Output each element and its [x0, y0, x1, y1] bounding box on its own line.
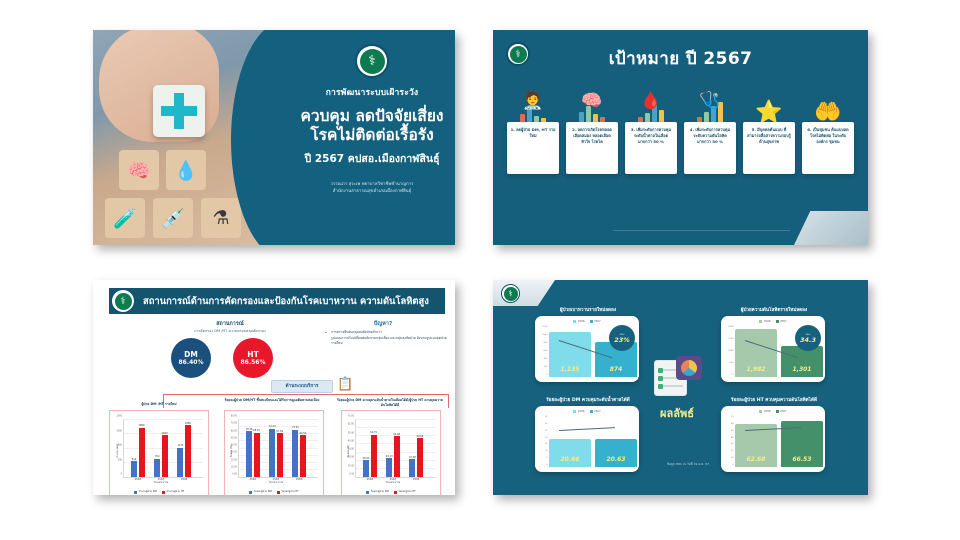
brain-icon: 🧠 [119, 150, 159, 190]
hero-star-icon: ⭐ [743, 82, 795, 124]
bp-monitor-up-icon: 🩺 [684, 82, 736, 124]
legend-swatch [162, 491, 165, 494]
plot-area: 01020304050607062.6866.53 [735, 419, 818, 467]
legend-swatch [394, 491, 397, 494]
glucometer-up-icon: 🩸 [625, 82, 677, 124]
bar-value-label: 27.08 [409, 456, 416, 460]
bar-group: 72.3464.532566 [292, 430, 306, 477]
result-bar-value: 62.68 [747, 456, 766, 467]
legend-label: ร้อยละผู้ป่วย DM [371, 490, 389, 494]
chart-legend: ร้อยละผู้ป่วย DMร้อยละผู้ป่วย HT [342, 490, 440, 494]
bar-group: 70.4668.252564 [246, 431, 260, 477]
problem-text-2: รูปแบบการปรับเปลี่ยนพฤติกรรมกลุ่มเสี่ยง … [331, 336, 447, 346]
legend-label: ร้อยละผู้ป่วย HT [281, 490, 298, 494]
legend-swatch [759, 410, 762, 413]
legend-entry: 2567 [776, 320, 787, 323]
x-axis-label: ปีงบประมาณ [269, 481, 283, 485]
result-bar-value: 1,135 [561, 366, 580, 377]
slide-4-results[interactable]: ⚕ ผู้ป่วยเบาหวานรายใหม่ลดลง2566256702004… [493, 280, 868, 495]
legend-label: 2566 [764, 410, 771, 413]
y-tick: 1200 [542, 326, 549, 328]
bar: 62.68 [394, 436, 400, 477]
y-tick: 1000 [728, 350, 735, 352]
ministry-logo-icon: ⚕ [355, 44, 389, 78]
plot-area: 0.0010.0020.0030.0040.0050.0060.0070.002… [355, 419, 435, 477]
legend-label: 2566 [578, 320, 585, 323]
chart-title-3: ร้อยละผู้ป่วย DM ควบคุมระดับน้ำตาลในเลือ… [336, 398, 444, 408]
plot-area: 0.0010.0020.0030.0040.0050.0060.0070.008… [238, 419, 318, 477]
corner-decoration [794, 211, 868, 245]
legend-label: 2566 [578, 410, 585, 413]
reduction-badge: ลดลง23% [609, 325, 635, 351]
chart-title-2: ร้อยละผู้ป่วย DM/HT ขึ้นทะเบียนและได้รับ… [221, 398, 323, 403]
legend-swatch [134, 491, 137, 494]
bar-group: 113519822566 [177, 425, 191, 477]
legend-entry: 2566 [759, 320, 770, 323]
result-bar-value: 1,301 [793, 366, 812, 377]
legend-entry: จำนวนผู้ป่วย HT [162, 490, 184, 494]
slide1-title-line1: ควบคุม ลดปัจจัยเสี่ยง [289, 107, 455, 126]
goal-card-2[interactable]: 2. ลดการเกิดโรคหลอดเลือดสมอง หลอดเลือดหั… [566, 122, 618, 174]
x-axis-label: ปีงบประมาณ [386, 481, 400, 485]
slide-1-title[interactable]: 🧠 💧 🧪 💉 ⚗ ⚕ การพัฒนาระบบเฝ้าระวัง ควบคุม… [93, 30, 455, 245]
y-tick: 35 [545, 416, 549, 418]
badge-value: 34.3 [800, 336, 816, 344]
bar: 27.08 [409, 459, 415, 477]
y-tick: 20.00 [231, 458, 238, 461]
chart-legend: จำนวนผู้ป่วย DMจำนวนผู้ป่วย HT [110, 490, 208, 494]
slide-2-goals[interactable]: ⚕ เป้าหมาย ปี 2567 🧑‍⚕️🧠🩸🩺⭐🤲 1. ลดผู้ป่ว… [493, 30, 868, 245]
legend-entry: ร้อยละผู้ป่วย DM [366, 490, 388, 494]
result-chart-1[interactable]: 256625670200400600800100012001,135874ลดล… [535, 316, 639, 382]
x-tick: 2566 [181, 477, 188, 481]
title-text-panel: ⚕ การพัฒนาระบบเฝ้าระวัง ควบคุม ลดปัจจัยเ… [289, 30, 455, 245]
clipboard-location-icon: 📋 [337, 377, 353, 392]
y-tick: 80.00 [231, 415, 238, 418]
results-label: ผลลัพธ์ [643, 404, 711, 422]
problem-title: ปัญหา? [323, 320, 443, 328]
result-bar: 1,982 [735, 329, 777, 377]
legend-label: 2567 [780, 320, 787, 323]
bar-value-label: 74.44 [269, 425, 276, 429]
result-chart-title-3: ร้อยละผู้ป่วย DM ควบคุมระดับน้ำตาลได้ดี [523, 397, 653, 404]
y-tick: 20 [545, 437, 549, 439]
brain-vessel-down-icon: 🧠 [566, 82, 618, 124]
y-tick: 50.00 [231, 436, 238, 439]
bar: 1899 [139, 428, 145, 477]
logo-glyph: ⚕ [360, 49, 385, 74]
bar-group: 29.1362.682565 [386, 436, 400, 477]
bar: 1135 [177, 448, 183, 478]
bar: 610 [131, 461, 137, 477]
result-chart-title-4: ร้อยละผู้ป่วย HT ควบคุมความดันโลหิตได้ดี [709, 397, 839, 404]
bar-value-label: 25.63 [363, 457, 370, 461]
result-chart-3[interactable]: 256625670510152025303520.6620.63 [535, 406, 639, 472]
molecule-icon: ⚗ [201, 198, 241, 238]
pie-chart-icon [676, 356, 702, 380]
ministry-logo-icon: ⚕ [501, 284, 520, 303]
y-tick: 1000 [542, 334, 549, 336]
legend-swatch [249, 491, 252, 494]
result-legend: 25662567 [721, 320, 825, 323]
legend-label: 2567 [594, 320, 601, 323]
reduction-badge: ลดลง34.3 [795, 325, 821, 351]
bar: 70.46 [246, 431, 252, 477]
legend-label: ร้อยละผู้ป่วย DM [254, 490, 272, 494]
kpi-dm-label: DM [184, 350, 198, 359]
y-tick: 70.00 [231, 422, 238, 425]
y-tick: 1500 [116, 429, 123, 432]
bar: 64.53 [300, 435, 306, 477]
y-tick: 60.00 [348, 423, 355, 426]
y-tick: 70 [731, 416, 735, 418]
slide3-header-title: สถานการณ์ด้านการคัดกรองและป้องกันโรคเบาห… [143, 294, 429, 309]
legend-swatch [776, 410, 779, 413]
result-legend: 25662567 [721, 410, 825, 413]
y-tick: 1500 [728, 338, 735, 340]
slide3-header-bar: สถานการณ์ด้านการคัดกรองและป้องกันโรคเบาห… [109, 288, 445, 314]
goal-card-6[interactable]: 6. เป็นชุมชน ต้นแบบลดโรคไม่ติดต่อ ในระดั… [802, 122, 854, 174]
y-tick: 25 [545, 430, 549, 432]
legend-swatch [573, 320, 576, 323]
legend-label: 2567 [780, 410, 787, 413]
result-chart-title-2: ผู้ป่วยความดันโลหิตรายใหม่ลดลง [709, 307, 839, 314]
slide1-subtitle: การพัฒนาระบบเฝ้าระวัง [289, 85, 455, 99]
bar: 1600 [162, 435, 168, 477]
goal-card-3[interactable]: 3. เพิ่มระดับการควบคุมระดับน้ำตาลในเลือด… [625, 122, 677, 174]
legend-entry: 2567 [590, 410, 601, 413]
bar-group: 74.4467.562565 [269, 429, 283, 477]
blood-drop-icon: 💧 [166, 150, 206, 190]
logo-glyph: ⚕ [115, 293, 132, 310]
y-tick: 30 [545, 423, 549, 425]
bar-group: 25.6364.792564 [363, 435, 377, 477]
bar-value-label: 64.79 [370, 431, 377, 435]
bar-value-label: 64.53 [299, 432, 306, 436]
kpi-ht-label: HT [247, 350, 258, 359]
legend-swatch [366, 491, 369, 494]
bar: 29.13 [386, 458, 392, 477]
result-chart-title-1: ผู้ป่วยเบาหวานรายใหม่ลดลง [523, 307, 653, 314]
legend-entry: จำนวนผู้ป่วย DM [134, 490, 157, 494]
legend-swatch [590, 320, 593, 323]
legend-swatch [277, 491, 280, 494]
bar-value-label: 29.13 [386, 455, 393, 459]
ministry-logo-icon: ⚕ [111, 289, 135, 313]
y-tick: 50.00 [348, 431, 355, 434]
result-bar-value: 1,982 [747, 366, 766, 377]
slide-3-screening[interactable]: สถานการณ์ด้านการคัดกรองและป้องกันโรคเบาห… [93, 280, 455, 495]
bar-value-label: 610 [132, 458, 137, 462]
result-bar-value: 20.63 [607, 456, 626, 467]
result-chart-2[interactable]: 2566256705001000150020001,9821,301ลดลง34… [721, 316, 825, 382]
bar-value-label: 702 [155, 455, 160, 459]
x-tick: 2566 [296, 477, 303, 481]
legend-entry: ร้อยละผู้ป่วย HT [394, 490, 416, 494]
legend-label: จำนวนผู้ป่วย HT [166, 490, 184, 494]
goal-glyph: 🧠 [581, 93, 602, 110]
legend-entry: 2566 [573, 320, 584, 323]
community-hands-icon: 🤲 [802, 82, 854, 124]
bullet-icon: • [325, 331, 327, 337]
result-bar: 20.66 [549, 439, 591, 467]
medical-cross-cube [153, 85, 205, 137]
kpi-ht-value: 86.56% [241, 359, 266, 366]
legend-label: 2566 [764, 320, 771, 323]
y-tick: 40.00 [348, 439, 355, 442]
x-axis-label: ปีงบประมาณ [154, 481, 168, 485]
result-bar: 1,301 [781, 346, 823, 377]
result-bar-value: 66.53 [793, 456, 812, 467]
plot-area: 0510152025303520.6620.63 [549, 419, 632, 467]
bar-value-label: 1600 [162, 432, 168, 436]
bar-value-label: 1982 [185, 422, 191, 426]
bar-value-label: 62.68 [393, 433, 400, 437]
legend-entry: 2567 [590, 320, 601, 323]
result-legend: 25662567 [535, 410, 639, 413]
goal-glyph: 🧑‍⚕️ [522, 93, 543, 110]
y-axis-label: ร้อยละ (%) [347, 445, 351, 457]
y-tick: 70.00 [348, 415, 355, 418]
chart-3[interactable]: 0.0010.0020.0030.0040.0050.0060.0070.002… [341, 410, 441, 495]
legend-swatch [573, 410, 576, 413]
bar-group: 70216002565 [154, 435, 168, 477]
syringe-icon: 💉 [153, 198, 193, 238]
situation-subtitle: การคัดกรอง DM /HT ความครอบคลุมคัดกรอง [139, 328, 321, 334]
slide1-title-line3: ปี 2567 คปสอ.เมืองกาฬสินธุ์ [289, 150, 455, 167]
bar-value-label: 59.66 [416, 435, 423, 439]
bar: 64.79 [371, 435, 377, 477]
slide1-title-line2: โรคไม่ติดต่อเรื้อรัง [289, 126, 455, 145]
legend-entry: ร้อยละผู้ป่วย HT [277, 490, 299, 494]
chart-legend: ร้อยละผู้ป่วย DMร้อยละผู้ป่วย HT [225, 490, 323, 494]
bar: 59.66 [417, 438, 423, 477]
legend-swatch [759, 320, 762, 323]
test-tube-icon: 🧪 [105, 198, 145, 238]
kpi-circle-dm: DM 86.40% [171, 338, 211, 378]
slide2-title: เป้าหมาย ปี 2567 [493, 45, 868, 72]
y-tick: 60.00 [231, 429, 238, 432]
slide1-credit-2: สำนักงานสาธารณสุขอำเภอเมืองกาฬสินธุ์ [289, 188, 455, 195]
x-tick: 2566 [413, 477, 420, 481]
result-bar-value: 20.66 [561, 456, 580, 467]
logo-glyph: ⚕ [504, 287, 518, 301]
slide-deck-overview: 🧠 💧 🧪 💉 ⚗ ⚕ การพัฒนาระบบเฝ้าระวัง ควบคุม… [0, 0, 960, 540]
goal-glyph: 🩸 [640, 93, 661, 110]
goal-card-4[interactable]: 4. เพิ่มระดับการควบคุมระดับความดันโลหิต … [684, 122, 736, 174]
bar-value-label: 1899 [138, 424, 144, 428]
x-tick: 2564 [249, 477, 256, 481]
legend-swatch [590, 410, 593, 413]
situation-title: สถานการณ์ [155, 320, 305, 328]
y-tick: 10.00 [348, 464, 355, 467]
plot-area: 0500100015002000610189925647021600256511… [123, 419, 203, 477]
problem-body: • การตรวจยืนยันกลุ่มสงสัยป่วยต่ำกว่า รูป… [331, 330, 451, 347]
slide1-credit-1: วรรณภา สุระเพ พยาบาลวิชาชีพชำนาญการ [289, 181, 455, 188]
y-axis-label: จำนวน (คน) [116, 444, 120, 458]
bar-value-label: 1135 [177, 444, 183, 448]
x-tick: 2564 [134, 477, 141, 481]
bar-value-label: 72.34 [292, 426, 299, 430]
legend-label: ร้อยละผู้ป่วย HT [398, 490, 415, 494]
chart-2[interactable]: 0.0010.0020.0030.0040.0050.0060.0070.008… [224, 410, 324, 495]
bar-value-label: 68.25 [253, 429, 260, 433]
patient-chart-down-icon: 🧑‍⚕️ [507, 82, 559, 124]
legend-swatch [776, 320, 779, 323]
legend-label: 2567 [594, 410, 601, 413]
bar: 25.63 [363, 460, 369, 477]
title-photo: 🧠 💧 🧪 💉 ⚗ [93, 30, 281, 245]
legend-entry: 2566 [759, 410, 770, 413]
bar: 67.56 [277, 433, 283, 477]
kpi-circle-ht: HT 86.56% [233, 338, 273, 378]
result-bar: 1,135 [549, 332, 591, 377]
problem-text-1: การตรวจยืนยันกลุ่มสงสัยป่วยต่ำกว่า [331, 330, 382, 334]
goal-card-1[interactable]: 1. ลดผู้ป่วย DM, HT รายใหม่ [507, 122, 559, 174]
result-legend: 25662567 [535, 320, 639, 323]
y-tick: 10.00 [231, 465, 238, 468]
goal-card-row: 1. ลดผู้ป่วย DM, HT รายใหม่2. ลดการเกิดโ… [507, 122, 855, 174]
bar: 1982 [185, 425, 191, 477]
kpi-dm-value: 86.40% [179, 359, 204, 366]
bar-group: 61018992564 [131, 428, 145, 477]
bar-value-label: 67.56 [276, 430, 283, 434]
goal-glyph: ⭐ [755, 102, 782, 124]
x-tick: 2564 [366, 477, 373, 481]
bar: 74.44 [269, 429, 275, 477]
service-chip: ด้านระบบบริการ [271, 380, 333, 393]
badge-value: 23% [614, 336, 630, 344]
legend-entry: 2567 [776, 410, 787, 413]
bar: 72.34 [292, 430, 298, 477]
bar-value-label: 70.46 [246, 428, 253, 432]
checklist-piechart-icon [650, 356, 702, 398]
result-bar-value: 874 [610, 366, 623, 377]
y-axis-label: ร้อยละ (%) [230, 445, 234, 457]
goal-card-5[interactable]: 5. มีบุคคลต้นแบบ ที่สามารถสื่อสารความรอบ… [743, 122, 795, 174]
bar: 68.25 [254, 433, 260, 477]
goal-glyph: 🤲 [814, 102, 841, 124]
legend-label: จำนวนผู้ป่วย DM [138, 490, 157, 494]
bar: 702 [154, 459, 160, 477]
cross-icon [161, 106, 197, 116]
chart-title-1: ผู้ป่วย DM /HT รายใหม่ [113, 402, 205, 407]
goal-icon-row: 🧑‍⚕️🧠🩸🩺⭐🤲 [507, 82, 855, 124]
legend-entry: 2566 [573, 410, 584, 413]
result-bar: 62.68 [735, 424, 777, 467]
slide4-footer: ข้อมูล HDC ณ วันที่ 19 ม.ค. 67 [633, 462, 743, 467]
divider [613, 230, 790, 231]
bar-group: 27.0859.662566 [409, 438, 423, 477]
goal-glyph: 🩺 [699, 93, 720, 110]
legend-entry: ร้อยละผู้ป่วย DM [249, 490, 271, 494]
y-tick: 2000 [728, 326, 735, 328]
chart-1[interactable]: 0500100015002000610189925647021600256511… [109, 410, 209, 495]
y-tick: 2000 [116, 415, 123, 418]
result-bar: 20.63 [595, 439, 637, 467]
